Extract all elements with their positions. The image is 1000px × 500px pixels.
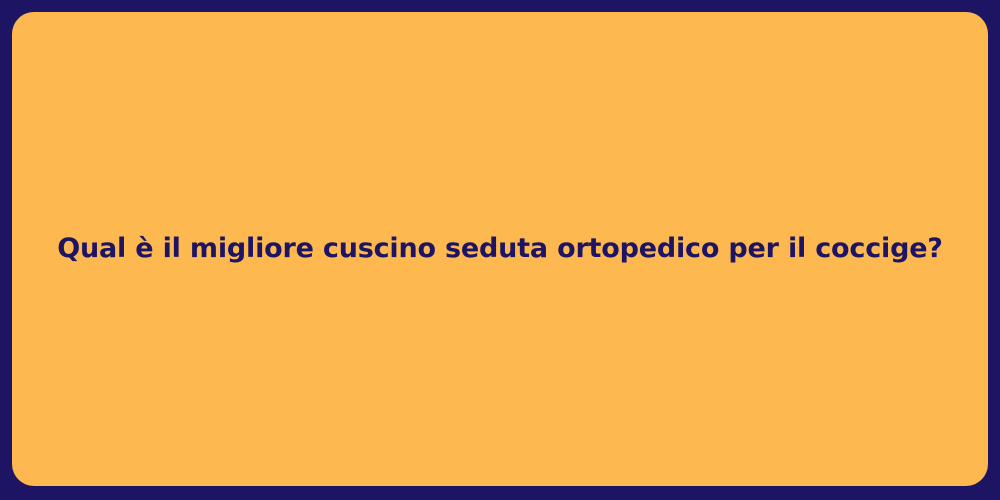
question-text: Qual è il migliore cuscino seduta ortope… xyxy=(57,231,943,266)
card-frame: Qual è il migliore cuscino seduta ortope… xyxy=(0,0,1000,500)
question-card: Qual è il migliore cuscino seduta ortope… xyxy=(12,12,988,486)
